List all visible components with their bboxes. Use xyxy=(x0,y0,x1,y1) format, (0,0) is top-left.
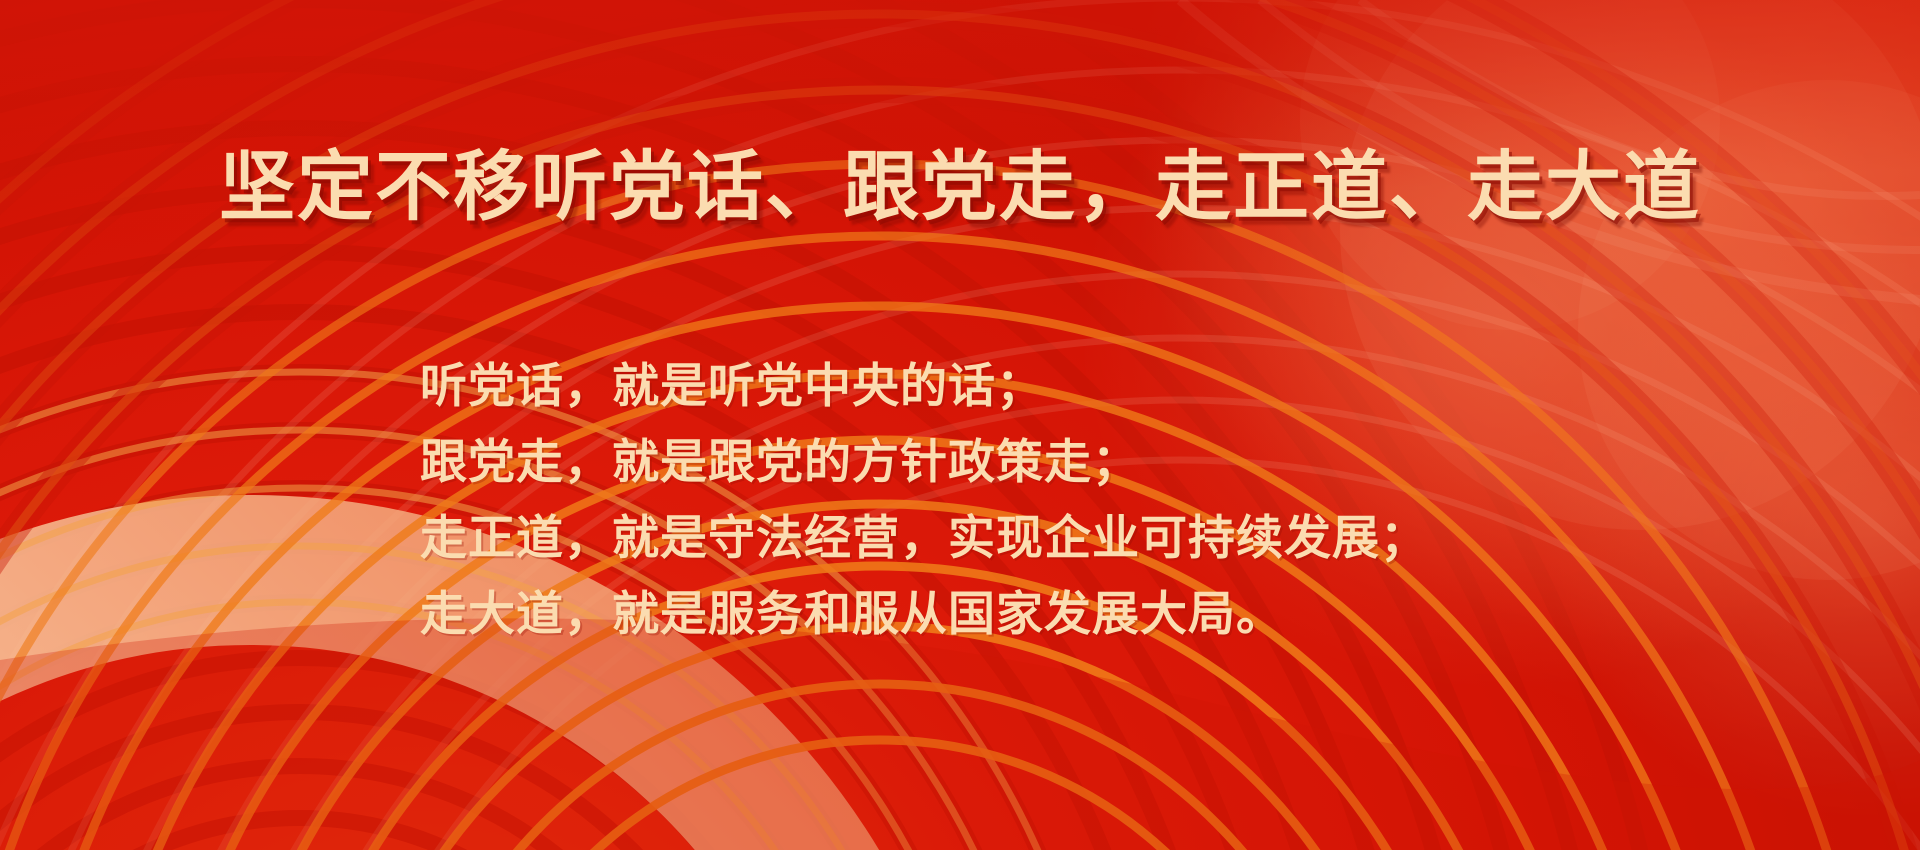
poster-content: 坚定不移听党话、跟党走，走正道、走大道 听党话，就是听党中央的话； 跟党走，就是… xyxy=(0,0,1920,850)
body-text-block: 听党话，就是听党中央的话； 跟党走，就是跟党的方针政策走； 走正道，就是守法经营… xyxy=(420,348,1428,652)
body-line-4: 走大道，就是服务和服从国家发展大局。 xyxy=(420,576,1428,652)
body-line-1: 听党话，就是听党中央的话； xyxy=(420,348,1428,424)
poster-canvas: 坚定不移听党话、跟党走，走正道、走大道 听党话，就是听党中央的话； 跟党走，就是… xyxy=(0,0,1920,850)
body-line-3: 走正道，就是守法经营，实现企业可持续发展； xyxy=(420,500,1428,576)
title-container: 坚定不移听党话、跟党走，走正道、走大道 xyxy=(0,150,1920,226)
body-line-2: 跟党走，就是跟党的方针政策走； xyxy=(420,424,1428,500)
poster-headline: 坚定不移听党话、跟党走，走正道、走大道 xyxy=(219,150,1701,226)
